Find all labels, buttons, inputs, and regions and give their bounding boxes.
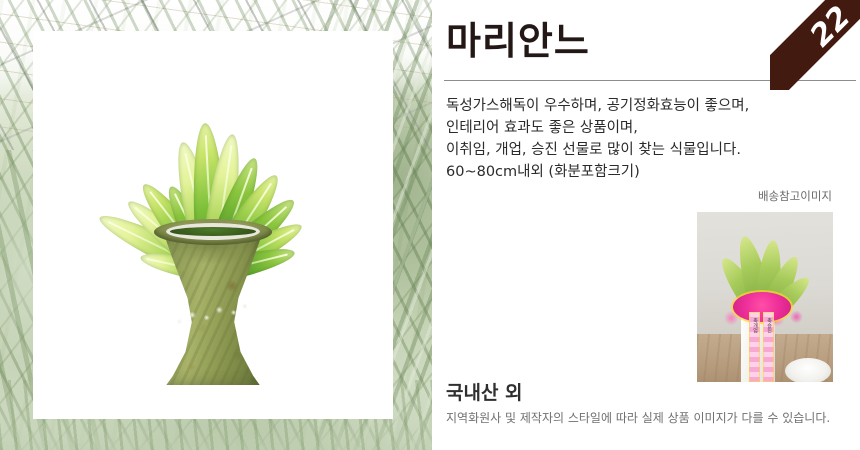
product-info-banner: 마리안느 독성가스해독이 우수하며, 공기정화효능이 좋으며, 인테리어 효과도…: [0, 0, 860, 450]
dieffenbachia-plant-illustration: [33, 31, 393, 419]
main-product-photo-panel: [0, 0, 432, 450]
vase-soil: [166, 223, 260, 240]
ceramic-vase: [154, 219, 272, 391]
product-origin: 국내산 외: [446, 378, 523, 405]
product-title: 마리안느: [446, 22, 590, 60]
reference-ribbon-banner-2: 축승진: [763, 312, 774, 382]
description-line-2: 인테리어 효과도 좋은 상품이며,: [446, 117, 846, 139]
description-line-1: 독성가스해독이 우수하며, 공기정화효능이 좋으며,: [446, 95, 846, 117]
description-line-4: 60~80cm내외 (화분포함크기): [446, 161, 846, 183]
main-product-image-card: [33, 31, 393, 419]
reference-pink-bow: [733, 292, 791, 322]
ribbon-banner-text-2: 축승진: [764, 318, 773, 333]
description-line-3: 이취임, 개업, 승진 선물로 많이 찾는 식물입니다.: [446, 139, 846, 161]
product-disclaimer: 지역화원사 및 제작자의 스타일에 따라 실제 상품 이미지가 다를 수 있습니…: [446, 409, 830, 426]
reference-ribbon-banner-1: 축개업: [749, 312, 760, 382]
reference-image: 축개업 축승진: [697, 212, 833, 382]
product-details-panel: 마리안느 독성가스해독이 우수하며, 공기정화효능이 좋으며, 인테리어 효과도…: [432, 0, 860, 450]
reference-image-label: 배송참고이미지: [758, 188, 832, 204]
product-description: 독성가스해독이 우수하며, 공기정화효능이 좋으며, 인테리어 효과도 좋은 상…: [446, 95, 846, 183]
reference-white-plate: [785, 358, 831, 382]
ribbon-banner-text-1: 축개업: [750, 318, 759, 333]
title-divider: [444, 80, 856, 81]
